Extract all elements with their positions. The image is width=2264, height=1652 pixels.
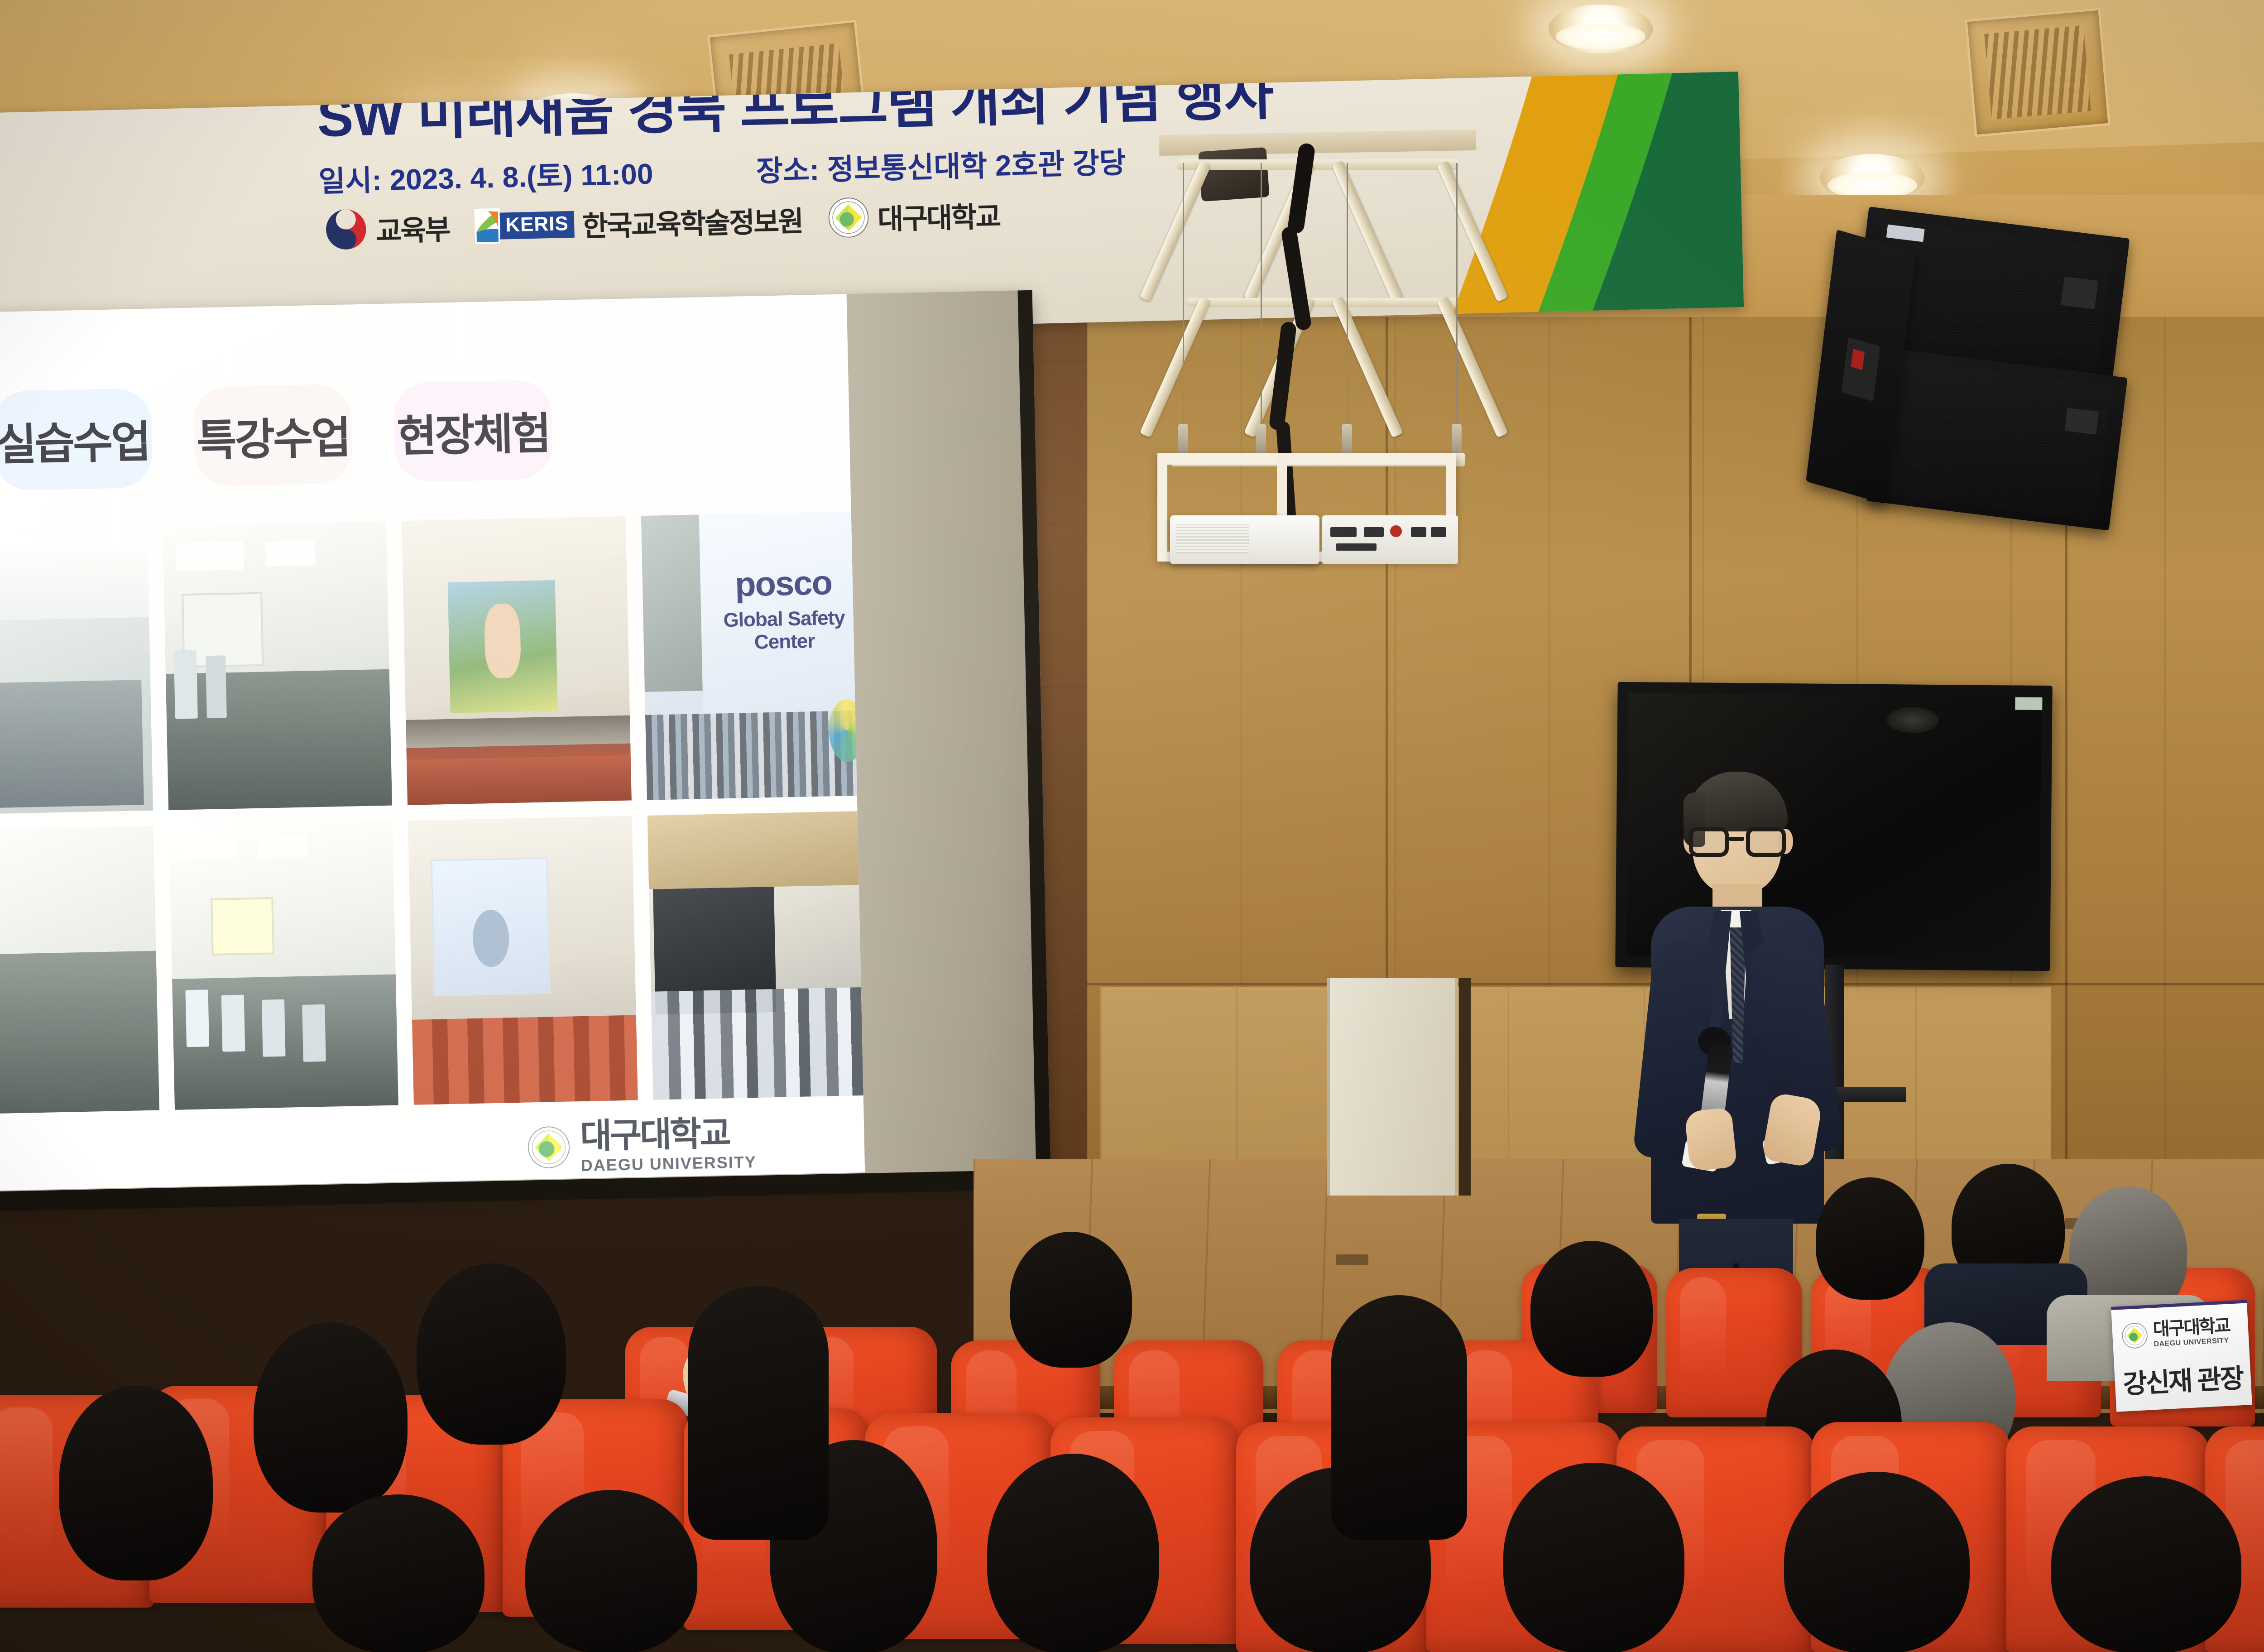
posco-subtitle: Global Safety Center — [701, 606, 865, 655]
projector-port — [1431, 527, 1446, 537]
screen-unlit-area — [846, 290, 1051, 1181]
slide-photo-students-seated-lobby — [647, 811, 865, 1100]
slide-footer-logo: 대구대학교 DAEGU UNIVERSITY — [527, 1116, 757, 1175]
seat-name-card: 대구대학교 DAEGU UNIVERSITY 강신재 관장 — [2111, 1300, 2252, 1412]
projector-port — [1390, 525, 1402, 537]
audience-head — [525, 1490, 697, 1652]
auditorium-scene: SW 미래채움 경북 프로그램 개최 기념 행사 일시: 2023. 4. 8.… — [0, 0, 2264, 1652]
presenter-hand-left — [1684, 1107, 1737, 1172]
slide-photo-auditorium-stage-screen — [402, 516, 632, 805]
stage-side-door[interactable] — [1327, 978, 1458, 1196]
projector-port — [1411, 527, 1426, 537]
daegu-university-seal-icon — [2121, 1322, 2149, 1349]
banner-date: 일시: 2023. 4. 8.(토) 11:00 — [318, 158, 653, 198]
banner-venue: 장소: 정보통신대학 2호관 강당 — [756, 146, 1126, 187]
slide-footer-logo-korean: 대구대학교 — [580, 1116, 757, 1154]
scissor-arm — [1140, 297, 1211, 438]
projector-port — [1330, 527, 1357, 537]
ceiling-vent — [1965, 8, 2111, 137]
logo-label-daegu: 대구대학교 — [877, 194, 1000, 237]
projector-connector-panel — [1322, 515, 1458, 564]
projector-cable — [1287, 142, 1315, 234]
daegu-university-seal-icon — [527, 1125, 571, 1170]
taegeuk-icon — [324, 207, 368, 252]
slide-pill-practice: 실습수업 — [0, 388, 153, 491]
display-glare — [1887, 707, 1939, 733]
projector-cable — [1281, 226, 1312, 331]
logo-label-moe: 교육부 — [375, 206, 450, 249]
audience-head — [1530, 1241, 1653, 1377]
name-card-person: 강신재 관장 — [2114, 1356, 2252, 1402]
rig-top-bar — [1177, 159, 1458, 170]
scissor-arm — [1140, 161, 1211, 302]
audience-head — [1784, 1472, 1970, 1652]
rig-turnbuckle — [1178, 424, 1188, 454]
audience-head — [254, 1322, 408, 1513]
slide-footer-logo-english: DAEGU UNIVERSITY — [580, 1154, 757, 1174]
ceiling-projector-rig — [1132, 136, 1494, 571]
name-card-org-text: 대구대학교 DAEGU UNIVERSITY — [2153, 1316, 2230, 1349]
keris-icon: KERIS — [474, 206, 574, 244]
audience-head — [312, 1494, 484, 1652]
keris-wordmark: KERIS — [500, 211, 575, 239]
floor-outlet-plate — [1336, 1254, 1368, 1265]
door-gap — [1459, 978, 1471, 1196]
rig-turnbuckle — [1256, 424, 1266, 454]
name-card-org-row: 대구대학교 DAEGU UNIVERSITY — [2121, 1316, 2242, 1350]
keris-swoosh-icon — [474, 208, 500, 244]
slide-pill-field-experience: 현장체험 — [393, 379, 553, 482]
slide-photo-computer-classroom — [162, 521, 392, 810]
slide-photo-caption: posco Global Safety Center — [700, 562, 865, 655]
slide-photo-pc-lab-partial — [0, 826, 159, 1115]
ceiling-downlight — [1549, 5, 1653, 53]
audience-head-long-hair — [1331, 1295, 1467, 1540]
rig-turnbuckle — [1342, 424, 1352, 454]
ceiling-camera-icon — [1198, 147, 1269, 202]
projector — [1170, 515, 1319, 564]
projected-slide: 실습수업 특강수업 현장체험 — [0, 294, 865, 1191]
rig-hanger-wire — [1261, 163, 1262, 453]
logo-keris: KERIS 한국교육학술정보원 — [474, 198, 803, 247]
slide-photo-grid: posco Global Safety Center — [0, 511, 865, 1115]
presenter-glasses-icon — [1689, 827, 1786, 857]
audience-head — [59, 1386, 213, 1580]
slide-footer-logo-text: 대구대학교 DAEGU UNIVERSITY — [580, 1116, 757, 1174]
slide-pill-row: 실습수업 특강수업 현장체험 — [0, 379, 553, 491]
audience-head — [1503, 1463, 1684, 1652]
audience-head — [1010, 1232, 1132, 1368]
banner-logo-row: 교육부 KERIS 한국교육학술정보원 — [324, 192, 1000, 252]
scissor-arm — [1332, 297, 1403, 438]
projection-screen: 실습수업 특강수업 현장체험 — [0, 290, 1051, 1200]
logo-daegu-university: 대구대학교 — [827, 193, 1000, 239]
slide-photo-posco-group: posco Global Safety Center — [641, 511, 865, 800]
audience-head — [987, 1454, 1159, 1652]
audience-head — [2051, 1476, 2241, 1652]
projector-port — [1364, 527, 1384, 537]
posco-wordmark: posco — [700, 562, 865, 605]
audience-head-long-hair — [688, 1286, 829, 1540]
projector-port — [1336, 543, 1377, 551]
presenter-hair — [1686, 772, 1788, 831]
audience-head — [417, 1263, 566, 1445]
line-array-speaker — [1866, 348, 2127, 530]
rig-hanger-wire — [1456, 163, 1458, 453]
scissor-arm — [1332, 161, 1403, 302]
logo-ministry-of-education: 교육부 — [324, 205, 450, 251]
display-label-sticker — [2015, 697, 2042, 710]
audience-head — [1816, 1177, 1924, 1300]
rig-turnbuckle — [1452, 424, 1462, 454]
slide-photo-auditorium-red-seats — [408, 816, 638, 1105]
rig-hanger-wire — [1183, 163, 1184, 453]
logo-label-keris: 한국교육학술정보원 — [582, 198, 803, 244]
daegu-university-seal-icon — [827, 196, 870, 239]
name-card-org-korean: 대구대학교 — [2153, 1316, 2230, 1339]
slide-photo-pc-lab-rows — [168, 821, 398, 1110]
slide-photo-lecture-room-partial — [0, 526, 153, 815]
rig-hanger-wire — [1347, 163, 1348, 453]
slide-pill-special-lecture: 특강수업 — [193, 384, 354, 486]
rig-mid-bar — [1186, 298, 1458, 307]
